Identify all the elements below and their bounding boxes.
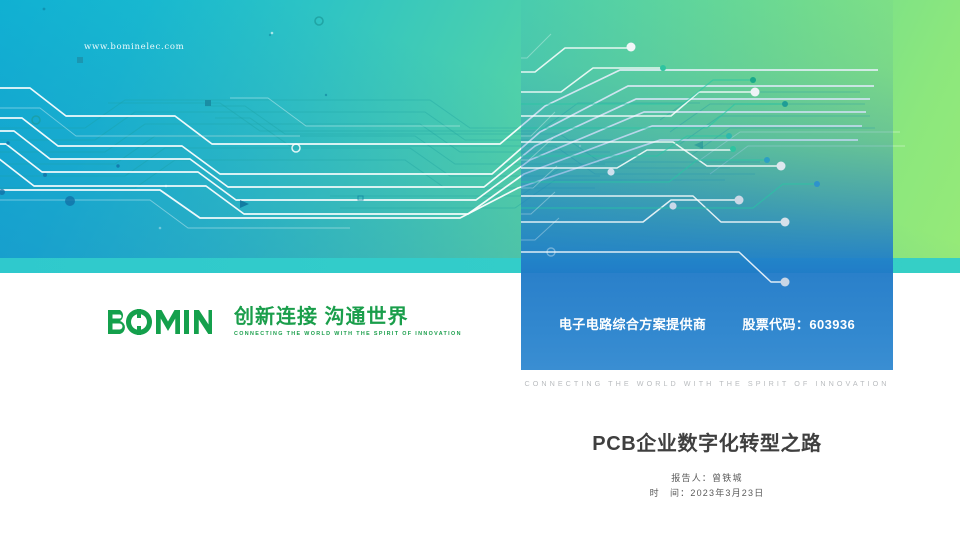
brand-logo-block: 创新连接 沟通世界 CONNECTING THE WORLD WITH THE … [108, 306, 462, 337]
circuit-endpoint-dots [547, 43, 820, 287]
panel-text-row: 电子电路综合方案提供商 股票代码：603936 [521, 314, 893, 333]
presentation-slide: www.bominelec.com 创新连接 沟通世界 CONNECTING T… [0, 0, 960, 540]
footer-tagline: CONNECTING THE WORLD WITH THE SPIRIT OF … [521, 379, 893, 388]
presenter-line: 报告人：曾铁城 [521, 471, 893, 486]
slide-meta: 报告人：曾铁城 时 间：2023年3月23日 [521, 471, 893, 501]
website-url: www.bominelec.com [84, 42, 184, 52]
company-descriptor: 电子电路综合方案提供商 [559, 314, 706, 333]
slide-title: PCB企业数字化转型之路 [521, 427, 893, 456]
brand-tagline-block: 创新连接 沟通世界 CONNECTING THE WORLD WITH THE … [234, 306, 462, 337]
stock-code: 股票代码：603936 [742, 314, 855, 333]
bomin-wordmark-logo [108, 309, 212, 335]
date-line: 时 间：2023年3月23日 [521, 486, 893, 501]
brand-tagline-cn: 创新连接 沟通世界 [234, 306, 462, 328]
brand-tagline-en: CONNECTING THE WORLD WITH THE SPIRIT OF … [234, 331, 462, 337]
